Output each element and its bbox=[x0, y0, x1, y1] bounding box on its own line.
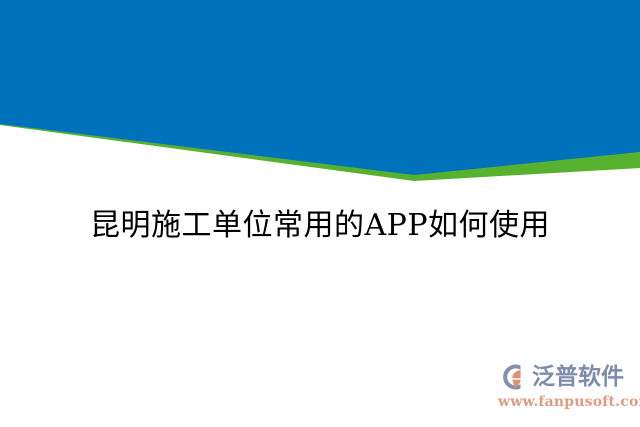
page-title-text: 昆明施工单位常用的APP如何使用 bbox=[90, 205, 550, 247]
fanpu-swoosh-icon bbox=[496, 362, 528, 392]
fanpu-swoosh-svg bbox=[496, 362, 528, 392]
page-title: 昆明施工单位常用的APP如何使用 bbox=[0, 205, 640, 247]
header-chevron-svg bbox=[0, 0, 640, 200]
blue-chevron-body bbox=[0, 0, 640, 175]
header-chevron-banner bbox=[0, 0, 640, 200]
brand-logo: 泛普软件 www.fanpusoft.com bbox=[496, 361, 632, 419]
slide-canvas: 昆明施工单位常用的APP如何使用 泛普软件 www.fanpusoft.com bbox=[0, 0, 640, 427]
green-accent-band bbox=[0, 110, 640, 181]
brand-wordmark: 泛普软件 bbox=[532, 364, 624, 390]
brand-logo-row: 泛普软件 bbox=[496, 361, 624, 393]
brand-url: www.fanpusoft.com bbox=[498, 394, 640, 411]
